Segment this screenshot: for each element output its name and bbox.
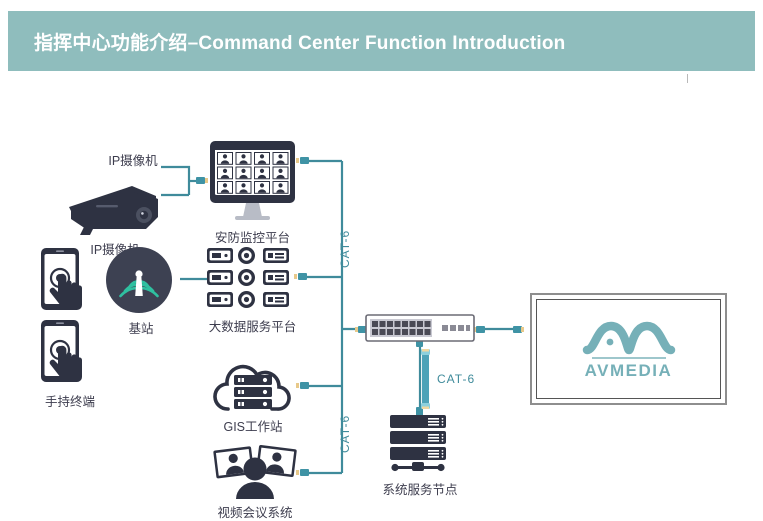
cloud-server-icon: [208, 361, 298, 413]
display-screen-inner: AVMEDIA: [536, 299, 721, 399]
page-title: 指挥中心功能介绍–Command Center Function Introdu…: [34, 28, 566, 55]
node-service-node[interactable]: 系统服务节点: [380, 413, 460, 493]
node-gis-workstation[interactable]: GIS工作站: [208, 361, 298, 433]
node-bigdata-platform[interactable]: 大数据服务平台: [205, 248, 300, 338]
node-label-base-station: 基站: [128, 318, 153, 337]
node-label-security-platform: 安防监控平台: [215, 227, 290, 246]
node-label-bigdata-platform: 大数据服务平台: [209, 316, 297, 335]
node-label-service-node: 系统服务节点: [382, 479, 457, 498]
cable-label-lower-trunk: CAT-6: [338, 415, 352, 453]
node-handheld-terminal[interactable]: 手持终端: [25, 248, 115, 408]
network-topology-diagram: CAT-6 CAT-6 CAT-6 IP摄像机: [0, 83, 763, 517]
node-label-handheld-terminal: 手持终端: [45, 391, 95, 410]
node-ip-camera-top[interactable]: IP摄像机: [98, 150, 168, 168]
node-label-video-conference: 视频会议系统: [217, 502, 292, 521]
ip-camera-icon: [60, 183, 170, 235]
brand-name: AVMEDIA: [585, 361, 673, 381]
brand-underline: [592, 357, 666, 359]
avmedia-wave-logo-icon: [581, 318, 677, 356]
node-label-ip-camera-top: IP摄像机: [108, 150, 157, 169]
node-network-switch[interactable]: [366, 311, 474, 347]
node-security-platform[interactable]: 安防监控平台: [205, 141, 300, 241]
node-label-gis-workstation: GIS工作站: [223, 416, 282, 435]
node-display-screen[interactable]: AVMEDIA: [530, 293, 727, 405]
network-switch-icon: [366, 311, 474, 347]
node-base-station[interactable]: 基站: [105, 246, 177, 338]
node-ip-camera-bottom[interactable]: IP摄像机: [60, 183, 170, 253]
cable-label-service-node: CAT-6: [437, 372, 475, 386]
cable-label-upper-trunk: CAT-6: [338, 230, 352, 268]
video-conference-icon: [210, 445, 300, 499]
server-array-icon: [205, 248, 300, 310]
smartphone-touch-icon: [25, 248, 115, 388]
ethernet-cable-icon: [417, 349, 435, 409]
wifi-tower-icon: [105, 246, 177, 314]
monitor-grid-icon: [205, 141, 300, 223]
node-video-conference[interactable]: 视频会议系统: [210, 445, 300, 517]
slide-title-bar: 指挥中心功能介绍–Command Center Function Introdu…: [8, 11, 755, 71]
header-tick-mark: [687, 74, 688, 83]
server-stack-icon: [380, 413, 460, 477]
